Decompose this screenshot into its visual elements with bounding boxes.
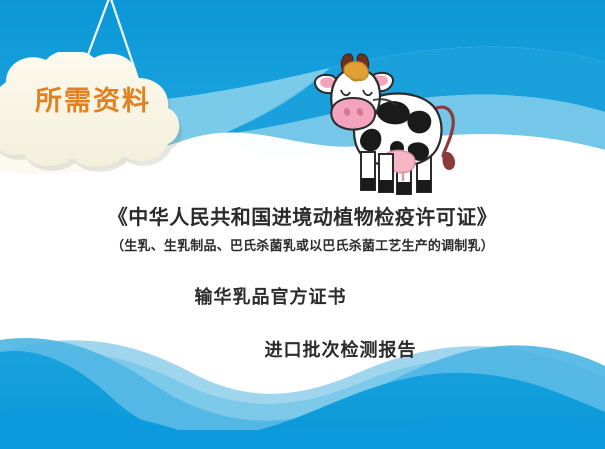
requirement-1-title: 《中华人民共和国进境动植物检疫许可证》 [0,206,605,229]
badge-label: 所需资料 [18,88,168,115]
requirement-2-title: 输华乳品官方证书 [0,288,573,309]
cow-muzzle [331,98,375,130]
requirement-3-title: 进口批次检测报告 [38,341,605,362]
cloud-badge: 所需资料 [0,52,198,174]
cow-illustration [305,52,475,200]
requirement-1-subtitle: （生乳、生乳制品、巴氏杀菌乳或以巴氏杀菌工艺生产的调制乳） [0,240,605,255]
slide-canvas: 所需资料 [0,0,605,449]
cow-icon [305,52,475,200]
